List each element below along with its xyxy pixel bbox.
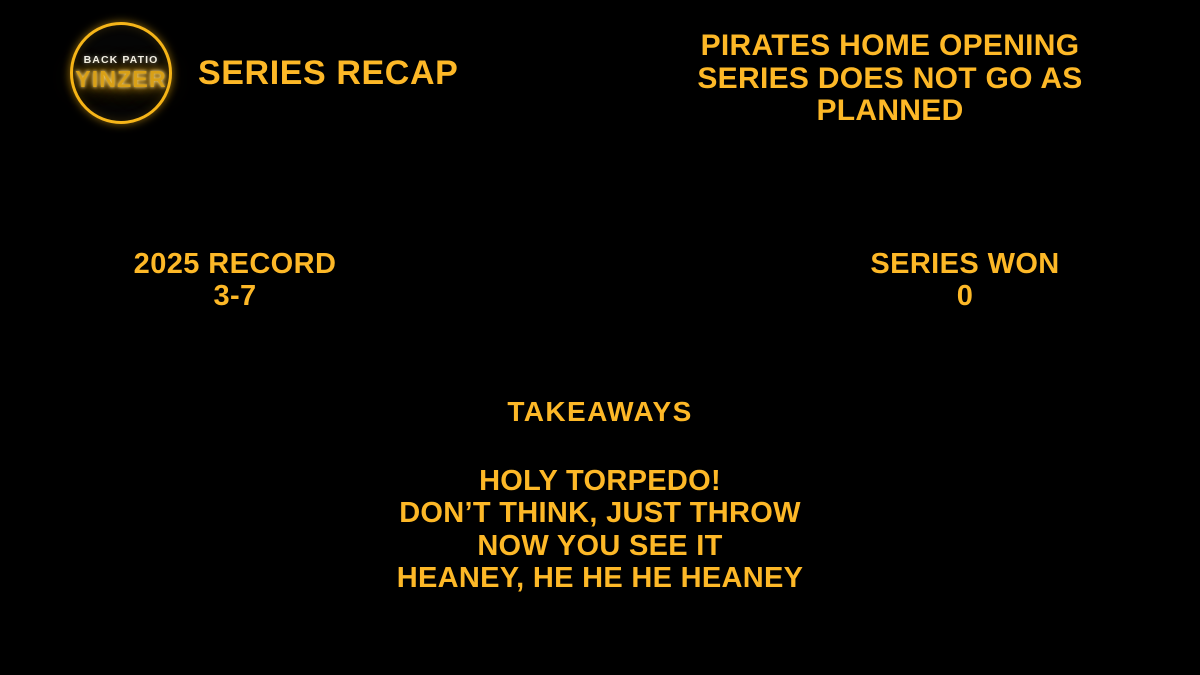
stat-record-value: 3-7	[0, 280, 600, 312]
stat-record-label: 2025 RECORD	[0, 248, 600, 280]
headline: PIRATES HOME OPENING SERIES DOES NOT GO …	[660, 30, 1120, 128]
headline-line-2: SERIES DOES NOT GO AS	[660, 63, 1120, 96]
headline-line-3: PLANNED	[660, 95, 1120, 128]
stat-series-won-value: 0	[600, 280, 1200, 312]
back-patio-yinzer-logo: BACK PATIO YINZER	[70, 22, 172, 124]
headline-line-1: PIRATES HOME OPENING	[660, 30, 1120, 63]
stat-record: 2025 RECORD 3-7	[0, 248, 600, 313]
takeaway-item: NOW YOU SEE IT	[0, 530, 1200, 562]
slide-header: BACK PATIO YINZER SERIES RECAP PIRATES H…	[0, 0, 1200, 150]
stat-series-won: SERIES WON 0	[600, 248, 1200, 313]
page-title: SERIES RECAP	[198, 56, 458, 90]
recap-slide: BACK PATIO YINZER SERIES RECAP PIRATES H…	[0, 0, 1200, 675]
takeaway-item: DON’T THINK, JUST THROW	[0, 497, 1200, 529]
takeaway-item: HEANEY, HE HE HE HEANEY	[0, 562, 1200, 594]
stats-row: 2025 RECORD 3-7 SERIES WON 0	[0, 248, 1200, 313]
logo-top-text: BACK PATIO	[84, 55, 159, 66]
takeaways-heading: TAKEAWAYS	[0, 398, 1200, 426]
takeaways-section: TAKEAWAYS HOLY TORPEDO! DON’T THINK, JUS…	[0, 398, 1200, 595]
stat-series-won-label: SERIES WON	[600, 248, 1200, 280]
logo-main-text: YINZER	[75, 68, 167, 91]
takeaway-item: HOLY TORPEDO!	[0, 465, 1200, 497]
brand-block: BACK PATIO YINZER SERIES RECAP	[70, 22, 458, 124]
